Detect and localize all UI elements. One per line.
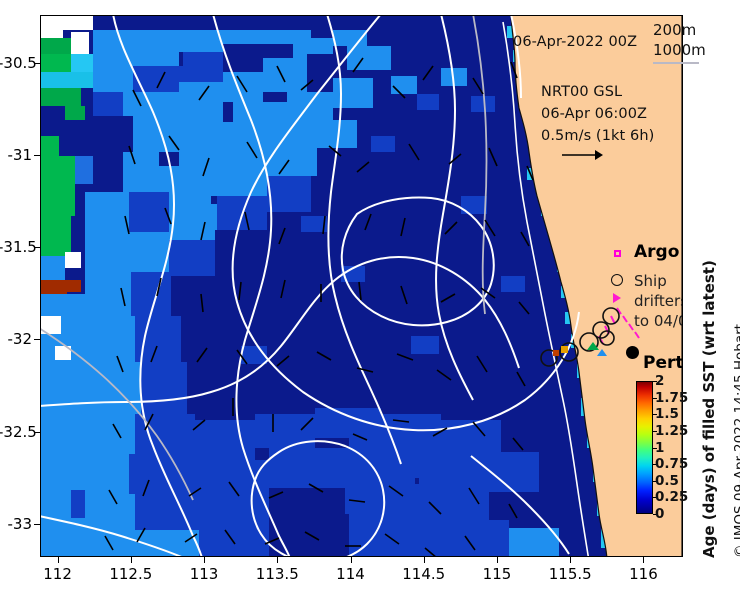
colorbar-tick-label: 0.75 xyxy=(655,456,688,472)
drifter-arrow-marker xyxy=(613,293,621,303)
bathymetry-depth-key: 200m 1000m xyxy=(653,20,706,60)
current-scale-line-3: 0.5m/s (1kt 6h) xyxy=(541,128,654,144)
ssh-contours xyxy=(41,16,579,556)
map-plot-area[interactable]: 06-Apr-2022 00Z NRT00 GSL 06-Apr 06:00Z … xyxy=(40,15,683,557)
depth-label-1000m: 1000m xyxy=(653,40,706,60)
y-tick-label: -30.5 xyxy=(0,54,32,72)
legend-label-argo: Argo xyxy=(634,242,679,262)
depth-key-line-1000m xyxy=(653,62,699,64)
y-tick-label: -31 xyxy=(0,146,32,164)
y-tick-label: -32.5 xyxy=(0,423,32,441)
x-tick xyxy=(497,557,498,563)
imos-credit-label: © IMOS 09-Apr-2022 14:45 Hobart xyxy=(732,324,740,558)
colorbar-tick-label: 0.5 xyxy=(655,473,679,489)
x-tick xyxy=(424,557,425,563)
legend-label-ship: Ship xyxy=(634,272,667,290)
y-tick-label: -33 xyxy=(0,515,32,533)
x-tick-label: 115.5 xyxy=(549,565,592,583)
x-tick-label: 112 xyxy=(43,565,72,583)
colorbar-tick-label: 1.75 xyxy=(655,390,688,406)
depth-label-200m: 200m xyxy=(653,20,706,40)
colorbar-tick-label: 1.5 xyxy=(655,406,679,422)
x-tick xyxy=(58,557,59,563)
x-tick-label: 114 xyxy=(336,565,365,583)
colorbar xyxy=(636,381,653,514)
perth-city-dot xyxy=(626,346,639,359)
colorbar-tick-label: 2 xyxy=(655,373,664,389)
y-tick-label: -31.5 xyxy=(0,238,32,256)
y-tick-label: -32 xyxy=(0,330,32,348)
x-tick xyxy=(277,557,278,563)
y-tick xyxy=(34,155,40,156)
ship-circle-marker xyxy=(611,274,623,286)
x-tick-label: 116 xyxy=(629,565,658,583)
current-product-line-2: 06-Apr 06:00Z xyxy=(541,106,647,122)
legend-label-drifters: drifters@6h xyxy=(634,292,683,310)
colorbar-tick-label: 1 xyxy=(655,440,664,456)
x-tick xyxy=(570,557,571,563)
reference-vector-arrow xyxy=(561,148,605,162)
x-tick xyxy=(204,557,205,563)
x-tick xyxy=(643,557,644,563)
map-timestamp-label: 06-Apr-2022 00Z xyxy=(513,34,637,50)
colorbar-tick-label: 0.25 xyxy=(655,489,688,505)
x-tick-label: 114.5 xyxy=(402,565,445,583)
x-tick-label: 112.5 xyxy=(109,565,152,583)
x-tick xyxy=(351,557,352,563)
x-tick xyxy=(131,557,132,563)
colorbar-tick-label: 1.25 xyxy=(655,423,688,439)
argo-square-marker xyxy=(614,250,621,257)
y-tick xyxy=(34,524,40,525)
figure-root: 06-Apr-2022 00Z NRT00 GSL 06-Apr 06:00Z … xyxy=(0,0,740,592)
x-tick-label: 113.5 xyxy=(256,565,299,583)
x-tick-label: 115 xyxy=(483,565,512,583)
perth-city-label: Perth xyxy=(643,353,683,373)
bathymetry-1000m-contour xyxy=(41,16,487,500)
y-tick xyxy=(34,339,40,340)
x-tick-label: 113 xyxy=(190,565,219,583)
current-product-line-1: NRT00 GSL xyxy=(541,84,622,100)
colorbar-tick-label: 0 xyxy=(655,506,664,522)
legend-label-drifters-time: to 04/04 12Z xyxy=(634,312,683,330)
colorbar-axis-label: Age (days) of filled SST (wrt latest) xyxy=(700,260,718,558)
